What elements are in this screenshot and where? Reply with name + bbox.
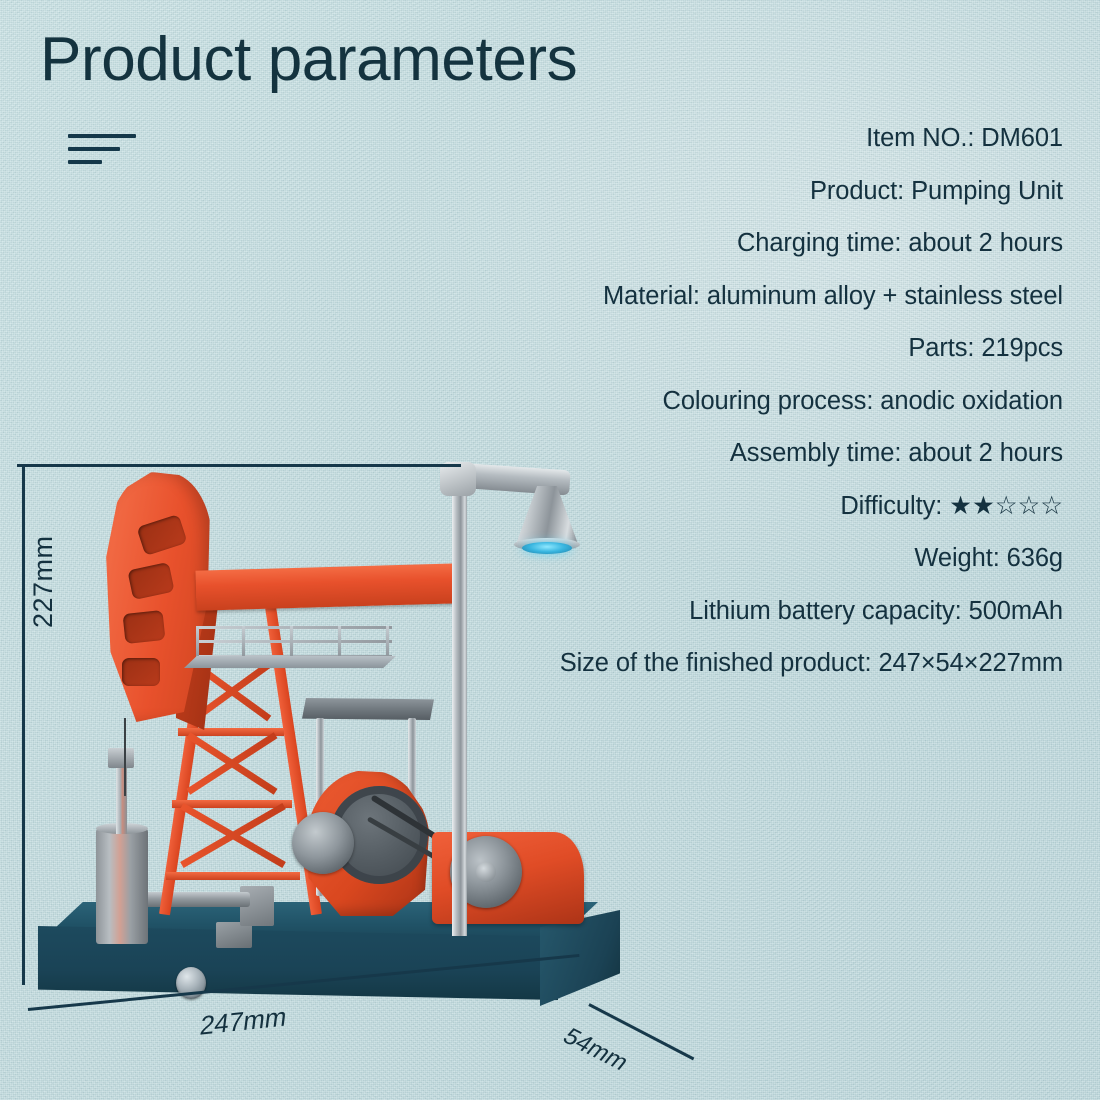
lamp-post [452,480,467,936]
lamp-shade [516,486,578,544]
dimension-line-height [22,464,25,985]
spec-charging-time: Charging time: about 2 hours [423,231,1063,257]
dimension-label-depth: 54mm [557,1024,634,1077]
horse-head-cutout [123,610,166,644]
railing-bar [196,640,392,643]
suspension-cable [124,718,126,796]
crank-bearing [292,812,354,874]
horse-head-cutout [136,514,187,556]
rule-line-3 [68,160,102,164]
page-title: Product parameters [40,26,577,94]
railing-post [242,626,245,658]
railing-post [290,626,293,658]
decorative-rule [68,134,136,173]
horse-head-cutout [122,658,160,686]
spec-colouring: Colouring process: anodic oxidation [423,389,1063,415]
spec-parts: Parts: 219pcs [423,336,1063,362]
platform-railing [196,626,392,660]
railing-post [196,626,199,658]
railing-post [338,626,341,658]
rule-line-2 [68,147,120,151]
spec-item-no: Item NO.: DM601 [423,126,1063,152]
led-light [522,542,572,554]
lamp-elbow [440,462,476,496]
spec-material: Material: aluminum alloy + stainless ste… [423,284,1063,310]
walking-beam [195,563,462,610]
rod-clamp [108,748,134,768]
platform-deck [184,656,396,668]
railing-bar [196,626,392,629]
product-parameters-page: Product parameters Item NO.: DM601 Produ… [0,0,1100,1100]
dimension-label-height: 227mm [28,535,59,628]
tower-rung [166,872,300,880]
dimension-line-top [17,464,461,467]
crossbeam [302,698,434,720]
railing-post [386,626,389,658]
spec-product: Product: Pumping Unit [423,179,1063,205]
wellhead-cylinder [96,828,148,944]
product-image [0,430,680,1030]
rule-line-1 [68,134,136,138]
horse-head-cutout [127,562,174,600]
